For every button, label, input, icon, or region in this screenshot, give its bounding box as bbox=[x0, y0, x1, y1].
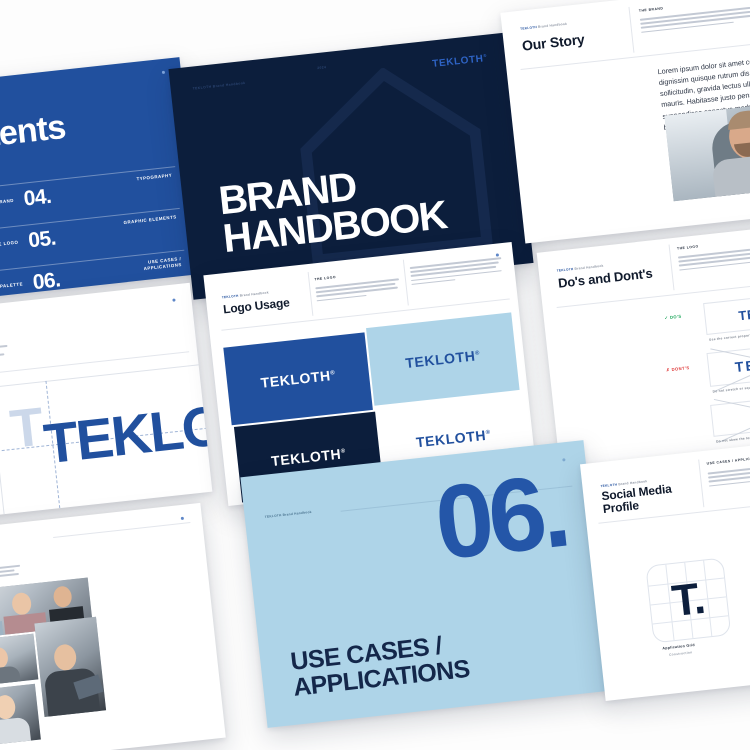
running-header: TEKLOTH Brand Handbook bbox=[520, 22, 567, 31]
logo-variant-mark: TEKLOTH® bbox=[415, 426, 492, 450]
slide-corner-dot-icon bbox=[162, 71, 165, 74]
logo-variant-mark: TEKLOTH® bbox=[260, 367, 337, 391]
photo-tile bbox=[0, 634, 38, 688]
usage-title: Logo Usage bbox=[223, 296, 291, 317]
contents-row-number: 06. bbox=[32, 268, 62, 295]
dont-sample: TEKLOTH® bbox=[710, 390, 750, 437]
divider bbox=[628, 7, 634, 53]
slide-section-divider[interactable]: TEKLOTH Brand Handbook 06. USE CASES / A… bbox=[240, 440, 610, 728]
contents-row-left-label: The Brand bbox=[0, 198, 14, 211]
slide-corner-dot-icon bbox=[496, 253, 499, 256]
logo-variant-tile[interactable]: TEKLOTH® bbox=[366, 312, 520, 405]
dont-marker: ✗ DONT'S bbox=[666, 365, 690, 373]
running-header: TEKLOTH Brand Handbook bbox=[265, 510, 312, 519]
do-label: DO'S bbox=[670, 314, 682, 320]
sample-logo: TEKLOTH® bbox=[738, 300, 750, 322]
logo-variant-tile[interactable]: TEKLOTH® bbox=[223, 332, 373, 425]
do-sample: TEKLOTH® bbox=[703, 288, 750, 335]
dont-caption: Do not skew the logo. bbox=[716, 435, 750, 443]
usage-lorem-right bbox=[410, 257, 504, 288]
slide-corner-dot-icon bbox=[172, 298, 175, 301]
running-header-brand: TEKLOTH bbox=[520, 25, 537, 31]
logo-text: TEKLOTH bbox=[260, 367, 332, 391]
slide-our-story[interactable]: TEKLOTH Brand Handbook The Brand Our Sto… bbox=[500, 0, 750, 244]
cover-corner-label: TEKLOTH Brand Handbook bbox=[193, 81, 246, 91]
social-kicker: Use Cases / Applications bbox=[706, 455, 750, 465]
app-icon-subcaption: Construction bbox=[669, 650, 693, 657]
usage-lorem-left bbox=[315, 278, 400, 304]
cover-center-label: 2024 bbox=[317, 65, 327, 70]
slide-corner-dot-icon bbox=[562, 458, 565, 461]
story-photo bbox=[664, 100, 750, 202]
running-header-doc: Brand Handbook bbox=[538, 22, 567, 29]
logo-text: TEKLOTH bbox=[270, 446, 342, 470]
contents-row-number: 05. bbox=[27, 227, 57, 254]
do-marker: ✓ DO'S bbox=[664, 314, 682, 321]
story-title: Our Story bbox=[521, 32, 585, 54]
photo-tile bbox=[0, 684, 41, 750]
slide-dos-and-donts[interactable]: TEKLOTH Brand Handbook The Logo Do's and… bbox=[537, 220, 750, 477]
running-header-brand: TEKLOTH bbox=[222, 294, 239, 300]
app-icon-caption: Application Grid bbox=[662, 643, 695, 651]
divider bbox=[669, 244, 675, 290]
slide-corner-dot-icon bbox=[181, 517, 184, 520]
divider bbox=[698, 459, 704, 507]
social-title: Social Media Profile bbox=[601, 483, 674, 517]
logo-variant-mark: TEKLOTH® bbox=[270, 445, 347, 469]
section-number: 06. bbox=[431, 465, 570, 572]
usage-kicker: The Logo bbox=[314, 275, 336, 281]
app-icon-grid-tile[interactable]: T. bbox=[645, 557, 731, 643]
dont-label: DONT'S bbox=[671, 365, 689, 372]
section-title: USE CASES / APPLICATIONS bbox=[289, 631, 471, 701]
dont-sample: TEKLOTH® bbox=[706, 338, 750, 387]
slide-social-media-profile[interactable]: TEKLOTH Brand Handbook Use Cases / Appli… bbox=[580, 433, 750, 701]
contents-row-right-label: Graphic Elements bbox=[113, 214, 177, 227]
divider bbox=[403, 260, 409, 306]
slide-graphic-elements[interactable]: Graphic Elements bbox=[0, 503, 226, 750]
logo-text: TEKLOTH bbox=[738, 301, 750, 323]
contents-row-left-label: The Logo bbox=[0, 240, 19, 253]
contents-row-left-label: Color Palette bbox=[0, 281, 23, 294]
divider bbox=[308, 272, 314, 316]
section-corner-label: TEKLOTH Brand Handbook bbox=[265, 510, 312, 519]
logo-text: TEKLOTH bbox=[415, 427, 487, 451]
logo-text: TEKLOTH bbox=[734, 351, 750, 376]
contents-row-number: 04. bbox=[23, 185, 53, 212]
running-header-doc: Brand Handbook bbox=[240, 290, 269, 297]
contents-title: Contents bbox=[0, 108, 67, 162]
app-icon-letter: T. bbox=[670, 574, 707, 627]
contents-row-right-label: Typography bbox=[108, 173, 172, 186]
logo-text: TEKLOTH bbox=[405, 348, 477, 372]
running-header-doc: Brand Handbook bbox=[574, 264, 603, 271]
divider bbox=[53, 522, 190, 538]
contents-row-right-label: Use Cases / Applications bbox=[117, 256, 182, 274]
story-kicker: The Brand bbox=[639, 6, 664, 13]
running-header-brand: TEKLOTH bbox=[557, 267, 574, 273]
slide-logo-construction[interactable]: TEKLOTH Brand Handbook The Logo TEKLOTH®… bbox=[0, 283, 212, 527]
photo-tile bbox=[34, 617, 106, 717]
sample-logo: TEKLOTH® bbox=[734, 350, 750, 375]
composition-canvas: Contents The Brand 04. Typography The Lo… bbox=[0, 0, 750, 750]
dos-kicker: The Logo bbox=[677, 244, 699, 250]
logo-variant-mark: TEKLOTH® bbox=[405, 347, 482, 371]
